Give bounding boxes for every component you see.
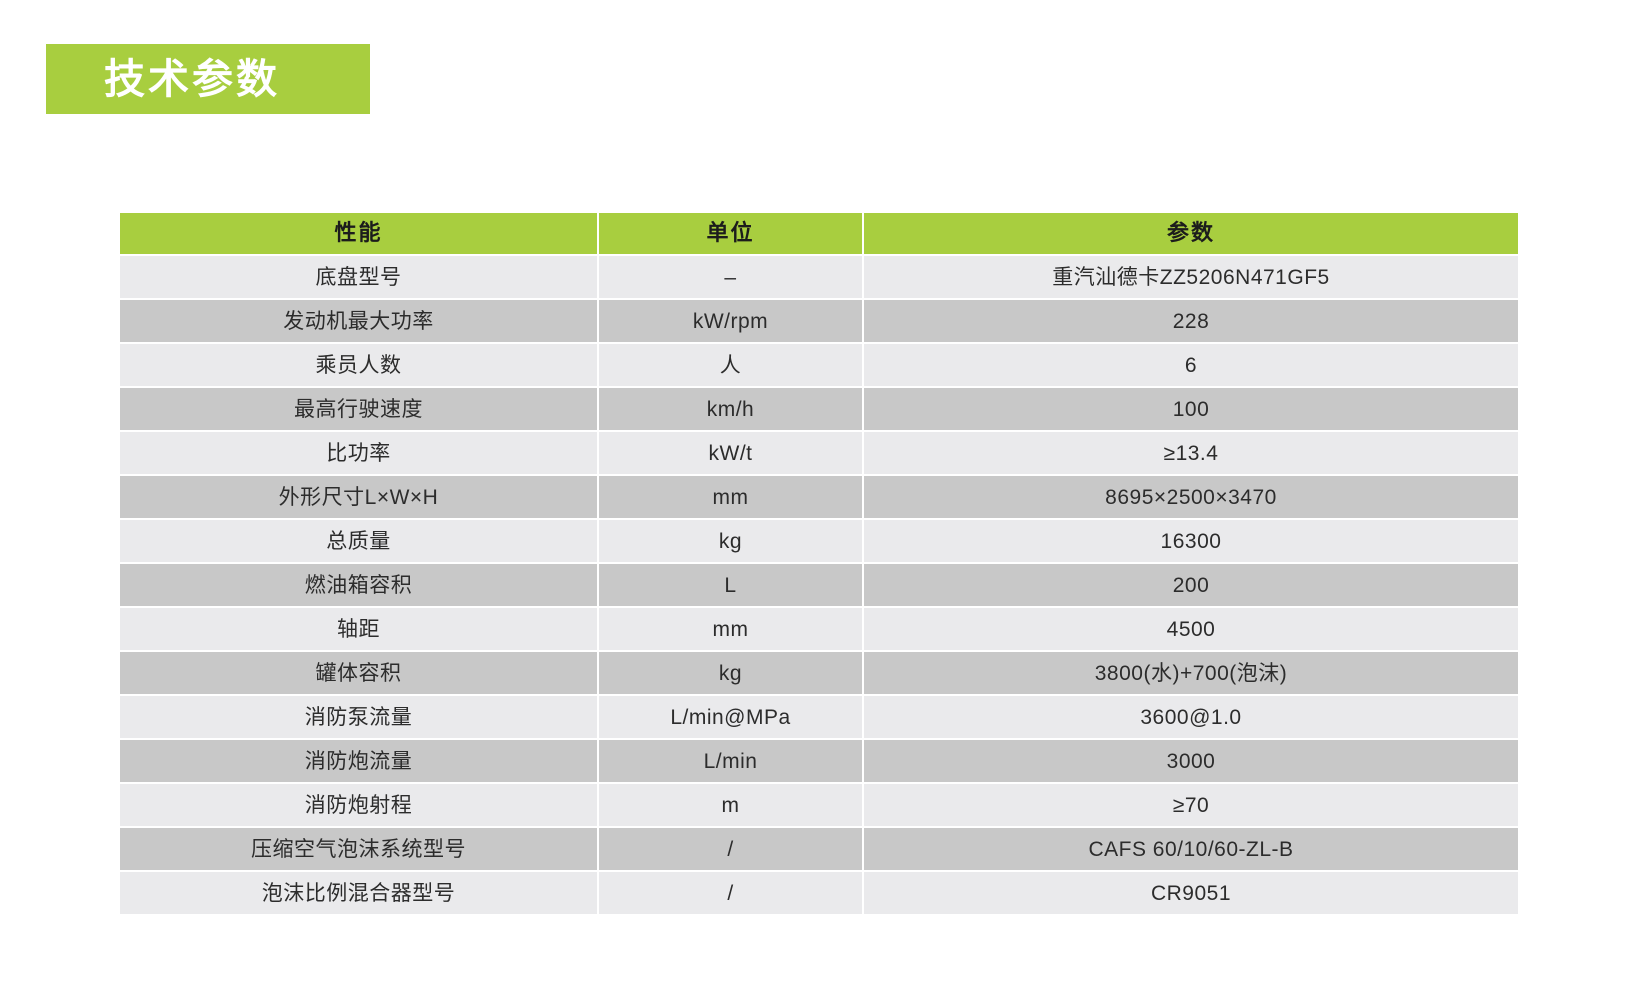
cell-parameter-text: ≥13.4 — [1164, 443, 1219, 464]
cell-performance-text: 总质量 — [326, 531, 391, 552]
cell-performance: 消防炮射程 — [120, 784, 597, 826]
table-row: 消防炮流量 L/min 3000 — [120, 740, 1518, 782]
cell-unit: kW/t — [599, 432, 862, 474]
cell-unit: kg — [599, 520, 862, 562]
cell-unit-text: kW/t — [709, 443, 753, 464]
cell-performance: 比功率 — [120, 432, 597, 474]
column-header-parameter-label: 参数 — [1167, 223, 1215, 245]
cell-performance: 泡沫比例混合器型号 — [120, 872, 597, 914]
column-header-parameter: 参数 — [864, 213, 1518, 254]
cell-parameter: 16300 — [864, 520, 1518, 562]
cell-performance: 消防炮流量 — [120, 740, 597, 782]
specifications-table: 性能 单位 参数 底盘型号 – 重汽汕德卡ZZ5206N471GF5 发动机最大… — [120, 213, 1518, 916]
cell-parameter-text: CAFS 60/10/60-ZL-B — [1088, 839, 1293, 860]
cell-parameter-text: 4500 — [1167, 619, 1216, 640]
cell-parameter-text: 3000 — [1167, 751, 1216, 772]
cell-unit-text: km/h — [707, 399, 755, 420]
cell-performance: 乘员人数 — [120, 344, 597, 386]
table-row: 燃油箱容积 L 200 — [120, 564, 1518, 606]
cell-parameter-text: ≥70 — [1173, 795, 1209, 816]
table-row: 比功率 kW/t ≥13.4 — [120, 432, 1518, 474]
cell-unit-text: / — [727, 839, 733, 860]
cell-parameter: 200 — [864, 564, 1518, 606]
cell-parameter-text: CR9051 — [1151, 883, 1231, 904]
cell-parameter: 8695×2500×3470 — [864, 476, 1518, 518]
cell-unit: / — [599, 872, 862, 914]
technical-specifications-page: 技术参数 性能 单位 参数 底盘型号 – 重汽汕德卡ZZ5206N471GF5 … — [0, 0, 1637, 1000]
cell-performance-text: 压缩空气泡沫系统型号 — [251, 839, 466, 860]
cell-performance: 发动机最大功率 — [120, 300, 597, 342]
cell-parameter: ≥70 — [864, 784, 1518, 826]
cell-unit: L — [599, 564, 862, 606]
cell-performance-text: 消防炮流量 — [305, 751, 413, 772]
cell-unit: 人 — [599, 344, 862, 386]
cell-performance: 燃油箱容积 — [120, 564, 597, 606]
cell-performance-text: 消防炮射程 — [305, 795, 413, 816]
table-row: 泡沫比例混合器型号 / CR9051 — [120, 872, 1518, 914]
cell-unit: kg — [599, 652, 862, 694]
cell-parameter-text: 3600@1.0 — [1140, 707, 1241, 728]
cell-parameter: CR9051 — [864, 872, 1518, 914]
cell-performance: 最高行驶速度 — [120, 388, 597, 430]
cell-unit: – — [599, 256, 862, 298]
cell-unit-text: mm — [713, 487, 749, 508]
cell-unit: L/min — [599, 740, 862, 782]
table-row: 消防炮射程 m ≥70 — [120, 784, 1518, 826]
cell-performance-text: 乘员人数 — [316, 355, 402, 376]
cell-parameter: 100 — [864, 388, 1518, 430]
cell-parameter-text: 重汽汕德卡ZZ5206N471GF5 — [1052, 267, 1329, 288]
table-row: 发动机最大功率 kW/rpm 228 — [120, 300, 1518, 342]
table-row: 总质量 kg 16300 — [120, 520, 1518, 562]
cell-parameter-text: 3800(水)+700(泡沫) — [1095, 663, 1288, 684]
cell-performance: 底盘型号 — [120, 256, 597, 298]
cell-performance-text: 消防泵流量 — [305, 707, 413, 728]
cell-unit: km/h — [599, 388, 862, 430]
cell-performance-text: 发动机最大功率 — [283, 311, 434, 332]
cell-unit-text: kg — [719, 531, 742, 552]
cell-unit: mm — [599, 608, 862, 650]
cell-performance-text: 底盘型号 — [316, 267, 402, 288]
cell-performance-text: 泡沫比例混合器型号 — [262, 883, 456, 904]
column-header-unit: 单位 — [599, 213, 862, 254]
table-row: 底盘型号 – 重汽汕德卡ZZ5206N471GF5 — [120, 256, 1518, 298]
cell-unit-text: m — [722, 795, 740, 816]
cell-performance-text: 外形尺寸L×W×H — [279, 487, 439, 508]
table-row: 压缩空气泡沫系统型号 / CAFS 60/10/60-ZL-B — [120, 828, 1518, 870]
cell-parameter: 重汽汕德卡ZZ5206N471GF5 — [864, 256, 1518, 298]
cell-parameter: 3000 — [864, 740, 1518, 782]
cell-parameter-text: 228 — [1173, 311, 1210, 332]
cell-unit: / — [599, 828, 862, 870]
cell-parameter-text: 16300 — [1161, 531, 1222, 552]
cell-parameter: 6 — [864, 344, 1518, 386]
cell-parameter: 4500 — [864, 608, 1518, 650]
cell-parameter-text: 100 — [1173, 399, 1210, 420]
section-title-banner: 技术参数 — [46, 44, 370, 114]
cell-unit-text: kW/rpm — [693, 311, 768, 332]
cell-parameter: 228 — [864, 300, 1518, 342]
section-title-text: 技术参数 — [104, 59, 280, 100]
cell-parameter-text: 200 — [1173, 575, 1210, 596]
cell-unit: L/min@MPa — [599, 696, 862, 738]
cell-unit-text: – — [724, 267, 736, 288]
table-row: 最高行驶速度 km/h 100 — [120, 388, 1518, 430]
cell-performance: 总质量 — [120, 520, 597, 562]
cell-unit-text: L — [724, 575, 736, 596]
column-header-unit-label: 单位 — [706, 223, 754, 245]
cell-parameter-text: 8695×2500×3470 — [1105, 487, 1277, 508]
table-row: 消防泵流量 L/min@MPa 3600@1.0 — [120, 696, 1518, 738]
column-header-performance-label: 性能 — [334, 223, 382, 245]
cell-unit-text: mm — [713, 619, 749, 640]
cell-performance: 压缩空气泡沫系统型号 — [120, 828, 597, 870]
table-header-row: 性能 单位 参数 — [120, 213, 1518, 254]
cell-performance: 消防泵流量 — [120, 696, 597, 738]
cell-parameter-text: 6 — [1185, 355, 1197, 376]
cell-unit: mm — [599, 476, 862, 518]
cell-performance: 外形尺寸L×W×H — [120, 476, 597, 518]
cell-unit-text: kg — [719, 663, 742, 684]
cell-unit-text: L/min — [704, 751, 758, 772]
table-row: 乘员人数 人 6 — [120, 344, 1518, 386]
cell-unit: kW/rpm — [599, 300, 862, 342]
cell-parameter: 3800(水)+700(泡沫) — [864, 652, 1518, 694]
cell-parameter: ≥13.4 — [864, 432, 1518, 474]
cell-performance: 罐体容积 — [120, 652, 597, 694]
table-row: 外形尺寸L×W×H mm 8695×2500×3470 — [120, 476, 1518, 518]
table-row: 罐体容积 kg 3800(水)+700(泡沫) — [120, 652, 1518, 694]
cell-unit-text: / — [727, 883, 733, 904]
cell-performance-text: 罐体容积 — [316, 663, 402, 684]
cell-performance-text: 最高行驶速度 — [294, 399, 423, 420]
cell-unit-text: L/min@MPa — [670, 707, 790, 728]
cell-performance-text: 比功率 — [326, 443, 391, 464]
column-header-performance: 性能 — [120, 213, 597, 254]
cell-performance-text: 燃油箱容积 — [305, 575, 413, 596]
cell-parameter: CAFS 60/10/60-ZL-B — [864, 828, 1518, 870]
table-row: 轴距 mm 4500 — [120, 608, 1518, 650]
cell-parameter: 3600@1.0 — [864, 696, 1518, 738]
cell-performance: 轴距 — [120, 608, 597, 650]
cell-unit-text: 人 — [720, 355, 742, 376]
cell-unit: m — [599, 784, 862, 826]
cell-performance-text: 轴距 — [337, 619, 380, 640]
